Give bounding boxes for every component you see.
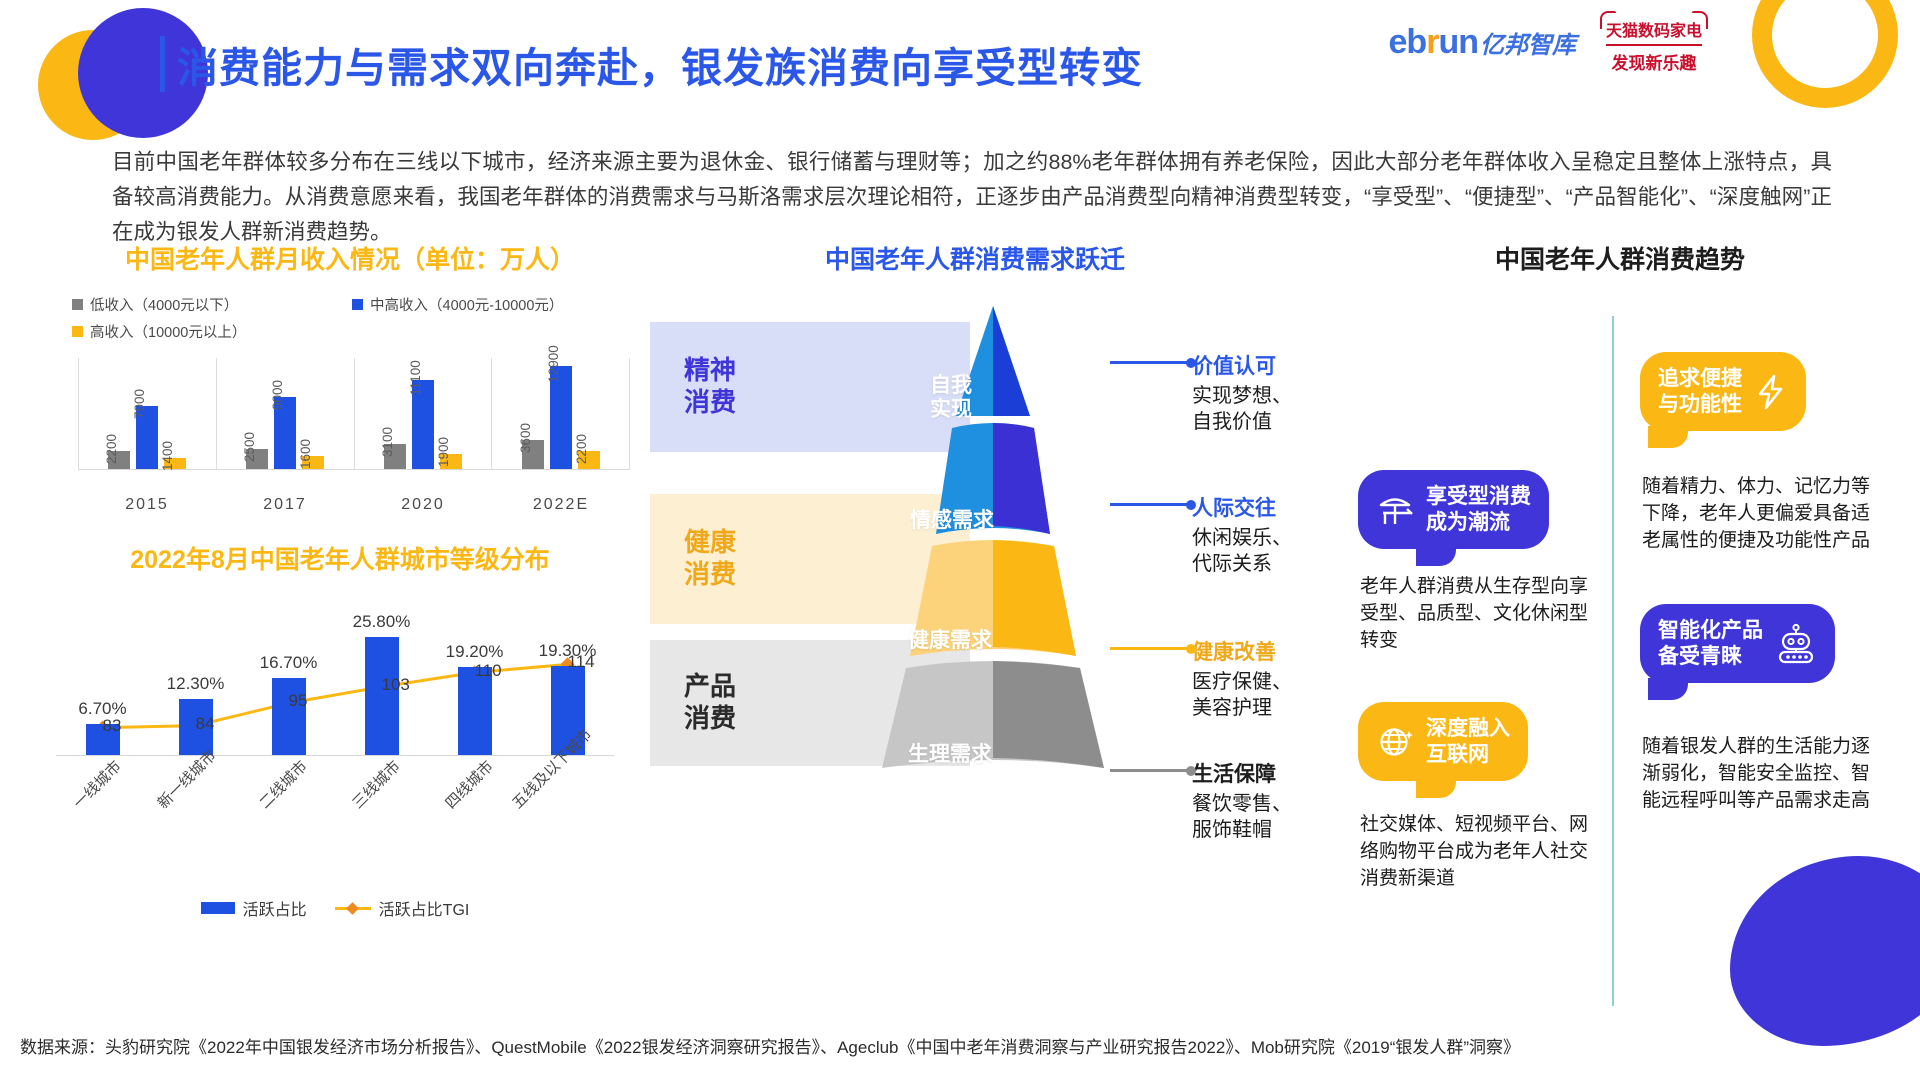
chart1-legend-item-low: 低收入（4000元以下）: [72, 294, 352, 315]
callout-body-2-line2: 代际关系: [1192, 551, 1292, 577]
cone-level4-right: [993, 661, 1104, 768]
trend-card-1-body: 老年人群消费从生存型向享受型、品质型、文化休闲型转变: [1360, 574, 1588, 655]
chart1-bar-value: 3100: [380, 427, 395, 457]
chart1-bar: 7900: [136, 406, 158, 469]
trend-card-3-head-line1: 深度融入: [1426, 716, 1510, 742]
callout-social-interaction: 人际交往 休闲娱乐、 代际关系: [1110, 492, 1292, 577]
cone-level2-right: [993, 423, 1050, 534]
chart2-x-label-wrap: 五线及以下城市: [521, 792, 614, 884]
chart1-bar-value: 3600: [518, 423, 533, 453]
chart1-bar-value: 1400: [160, 441, 175, 471]
chart1-title: 中国老年人群月收入情况（单位：万人）: [60, 240, 640, 276]
legend-swatch-active-share: [201, 902, 235, 914]
chart2-x-label-wrap: 一线城市: [56, 792, 149, 884]
callout-health-improvement: 健康改善 医疗保健、 美容护理: [1110, 636, 1292, 721]
data-source-footer: 数据来源：头豹研究院《2022年中国银发经济市场分析报告》、QuestMobil…: [20, 1033, 1520, 1058]
callout-body-3-line1: 医疗保健、: [1192, 669, 1292, 695]
chart1-group-2020: 3100111001900: [354, 358, 492, 469]
trend-card-2-head-line1: 追求便捷: [1658, 366, 1742, 392]
trend-card-3-bubble: 深度融入 互联网: [1358, 702, 1528, 781]
chart2-bar: 16.70%: [272, 678, 306, 755]
chart1-bar: 2500: [246, 449, 268, 469]
band-label-health-line2: 消费: [684, 559, 736, 591]
callout-head-1: 价值认可: [1192, 350, 1292, 380]
band-label-spiritual: 精神 消费: [684, 355, 736, 418]
pyramid-title: 中国老年人群消费需求跃迁: [640, 240, 1310, 276]
chart1-bar-value: 12900: [546, 345, 561, 383]
callout-dot-2: [1186, 500, 1196, 510]
ebrun-logo: ebrun 亿邦智库: [1389, 23, 1576, 62]
left-column: 中国老年人群月收入情况（单位：万人） 低收入（4000元以下） 中高收入（400…: [30, 240, 640, 920]
robot-icon: [1775, 623, 1817, 665]
legend-swatch-low-income: [72, 299, 83, 310]
chart1-bar-value: 2200: [104, 434, 119, 464]
chart1-group-2015: 220079001400: [78, 358, 216, 469]
chart2-x-label-wrap: 新一线城市: [149, 792, 242, 884]
chart2-bar-label: 12.30%: [167, 674, 225, 694]
trend-card-4-head-line1: 智能化产品: [1658, 618, 1763, 644]
callout-leader-line-1: [1110, 361, 1192, 364]
chart2-bar: 25.80%: [365, 637, 399, 755]
callout-dot-1: [1186, 358, 1196, 368]
callout-body-1-line2: 自我价值: [1192, 409, 1292, 435]
chart1-bar: 3100: [384, 444, 406, 469]
chart2-x-label-wrap: 二线城市: [242, 792, 335, 884]
callout-text-3: 健康改善 医疗保健、 美容护理: [1192, 636, 1292, 721]
trends-grid: 享受型消费 成为潮流 老年人群消费从生存型向享受型、品质型、文化休闲型转变 追求…: [1350, 322, 1890, 1012]
chart1-bar-value: 1600: [298, 439, 313, 469]
trend-card-4-bubble: 智能化产品 备受青睐: [1640, 604, 1835, 683]
chart1-x-axis: 2015201720202022E: [30, 496, 640, 514]
intro-paragraph: 目前中国老年群体较多分布在三线以下城市，经济来源主要为退休金、银行储蓄与理财等；…: [112, 145, 1832, 249]
chart1-bar-value: 9000: [270, 380, 285, 410]
trend-card-3-body: 社交媒体、短视频平台、网络购物平台成为老年人社交消费新渠道: [1360, 812, 1588, 893]
band-label-product: 产品 消费: [684, 671, 736, 734]
cone-level1-label-line2: 实现: [930, 398, 972, 422]
chart2-legend-item-line: 活跃占比TGI: [335, 896, 470, 920]
tmall-logo: 天猫数码家电 发现新乐趣: [1598, 12, 1710, 73]
chart1-bar-value: 7900: [132, 389, 147, 419]
chart2-x-label-wrap: 四线城市: [428, 792, 521, 884]
callout-life-security: 生活保障 餐饮零售、 服饰鞋帽: [1110, 758, 1292, 843]
cone-level3-right: [993, 540, 1076, 656]
trends-title: 中国老年人群消费趋势: [1350, 240, 1890, 276]
right-column: 中国老年人群消费趋势 享受型消费 成为潮流 老年人群消费从生存型向享受型、品质型…: [1350, 240, 1890, 1012]
legend-label-mid-income: 中高收入（4000元-10000元）: [370, 294, 563, 315]
callout-leader-line-4: [1110, 769, 1192, 772]
chart1-plot-area: 2200790014002500900016003100111001900360…: [78, 358, 630, 470]
trend-card-4-head-line2: 备受青睐: [1658, 644, 1763, 670]
callout-text-1: 价值认可 实现梦想、 自我价值: [1192, 350, 1292, 435]
callout-value-recognition: 价值认可 实现梦想、 自我价值: [1110, 350, 1292, 435]
tmall-logo-line2: 发现新乐趣: [1598, 55, 1710, 74]
chart2-column-三线城市: 25.80%: [335, 588, 428, 755]
band-label-spiritual-line2: 消费: [684, 387, 736, 419]
chart1-legend-item-high: 高收入（10000元以上）: [72, 321, 246, 342]
trend-card-1-head-line1: 享受型消费: [1426, 484, 1531, 510]
chart1-bar: 1400: [164, 458, 186, 469]
chart1-legend-item-mid: 中高收入（4000元-10000元）: [352, 294, 563, 315]
title-accent-rule: [160, 36, 165, 92]
chart2-column-二线城市: 16.70%: [242, 588, 335, 755]
cone-graphic: [828, 298, 1158, 776]
callout-text-2: 人际交往 休闲娱乐、 代际关系: [1192, 492, 1292, 577]
chart1-bar-value: 2500: [242, 432, 257, 462]
chart2-tgi-value: 84: [196, 714, 215, 734]
callout-dot-3: [1186, 644, 1196, 654]
chart1-bar: 11100: [412, 380, 434, 469]
chart1-x-label: 2022E: [492, 496, 630, 514]
band-label-health: 健康 消费: [684, 527, 736, 590]
chart1-x-label: 2015: [78, 496, 216, 514]
chart1-legend: 低收入（4000元以下） 中高收入（4000元-10000元） 高收入（1000…: [30, 294, 640, 342]
chart2-tgi-value: 114: [568, 652, 595, 672]
chart1-bar: 3600: [522, 440, 544, 469]
callout-head-4: 生活保障: [1192, 758, 1292, 788]
chart2-legend: 活跃占比 活跃占比TGI: [30, 896, 640, 920]
chart2-bar-label: 16.70%: [260, 653, 318, 673]
chart2-legend-item-bar: 活跃占比: [201, 896, 307, 920]
trend-card-4-body: 随着银发人群的生活能力逐渐弱化，智能安全监控、智能远程呼叫等产品需求走高: [1642, 734, 1878, 815]
callout-leader-line-2: [1110, 503, 1192, 506]
page-title: 消费能力与需求双向奔赴，银发族消费向享受型转变: [177, 34, 1143, 94]
chart1-bar: 12900: [550, 366, 572, 469]
chart2-tgi-value: 110: [475, 661, 502, 681]
legend-swatch-high-income: [72, 326, 83, 337]
legend-label-active-share: 活跃占比: [243, 896, 307, 920]
callout-body-3-line2: 美容护理: [1192, 695, 1292, 721]
trend-card-3-head: 深度融入 互联网: [1426, 716, 1510, 767]
chart2-tgi-value: 95: [289, 691, 308, 711]
band-label-spiritual-line1: 精神: [684, 355, 736, 387]
trend-card-2-head-line2: 与功能性: [1658, 392, 1742, 418]
legend-swatch-active-tgi: [335, 902, 371, 914]
chart2-tgi-value: 83: [103, 716, 122, 736]
callout-body-4-line2: 服饰鞋帽: [1192, 817, 1292, 843]
trend-card-3-head-line2: 互联网: [1426, 742, 1510, 768]
chart2-tgi-value: 103: [382, 675, 410, 695]
cone-level1-label: 自我 实现: [930, 374, 972, 423]
chart2-title: 2022年8月中国老年人群城市等级分布: [40, 540, 640, 576]
chart1-group-2017: 250090001600: [216, 358, 354, 469]
chart2-bar-label: 25.80%: [353, 612, 411, 632]
chart2-plot-area: 6.70%12.30%16.70%25.80%19.20%19.30%: [56, 588, 614, 756]
infographic-page: 消费能力与需求双向奔赴，银发族消费向享受型转变 ebrun 亿邦智库 天猫数码家…: [0, 0, 1920, 1080]
needs-pyramid: 精神 消费 健康 消费 产品 消费: [650, 322, 1310, 772]
chart1-bar: 2200: [578, 451, 600, 469]
trend-card-2-head: 追求便捷 与功能性: [1658, 366, 1742, 417]
globe-network-icon: [1376, 723, 1414, 761]
chart1-bar: 9000: [274, 397, 296, 469]
chart1-bar: 1900: [440, 454, 462, 469]
chart1-bar: 2200: [108, 451, 130, 469]
callout-body-1-line1: 实现梦想、: [1192, 383, 1292, 409]
cone-level3-label: 健康需求: [908, 624, 992, 654]
trend-card-1-head-line2: 成为潮流: [1426, 510, 1531, 536]
chart2-x-label-wrap: 三线城市: [335, 792, 428, 884]
chart1-income-bars: 2200790014002500900016003100111001900360…: [30, 358, 640, 488]
chart1-x-label: 2020: [354, 496, 492, 514]
band-label-health-line1: 健康: [684, 527, 736, 559]
chart2-x-axis: 一线城市新一线城市二线城市三线城市四线城市五线及以下城市: [30, 792, 640, 884]
ebrun-logo-part2: r: [1426, 23, 1438, 62]
tmall-logo-line1: 天猫数码家电: [1606, 23, 1702, 46]
brand-logos: ebrun 亿邦智库 天猫数码家电 发现新乐趣: [1389, 12, 1710, 73]
chart1-x-label: 2017: [216, 496, 354, 514]
cone-level1-label-line1: 自我: [930, 374, 972, 398]
trend-card-1-head: 享受型消费 成为潮流: [1426, 484, 1531, 535]
chart2-bar-label: 19.20%: [446, 642, 504, 662]
cone-level1-right: [993, 306, 1030, 416]
callout-text-4: 生活保障 餐饮零售、 服饰鞋帽: [1192, 758, 1292, 843]
callout-body-4-line1: 餐饮零售、: [1192, 791, 1292, 817]
callout-leader-line-3: [1110, 647, 1192, 650]
lightning-bolt-icon: [1754, 373, 1788, 411]
ebrun-logo-part1: eb: [1389, 23, 1427, 62]
trend-card-1-bubble: 享受型消费 成为潮流: [1358, 470, 1549, 549]
beach-umbrella-icon: [1376, 493, 1414, 527]
middle-column: 中国老年人群消费需求跃迁 精神 消费 健康 消费 产品 消费: [650, 240, 1310, 772]
trend-card-4-head: 智能化产品 备受青睐: [1658, 618, 1763, 669]
page-title-bar: 消费能力与需求双向奔赴，银发族消费向享受型转变: [160, 34, 1143, 94]
legend-label-active-tgi: 活跃占比TGI: [379, 896, 470, 920]
chart1-bar: 1600: [302, 456, 324, 469]
ebrun-logo-part3: un: [1438, 23, 1478, 62]
callout-body-2-line1: 休闲娱乐、: [1192, 525, 1292, 551]
callout-head-3: 健康改善: [1192, 636, 1292, 666]
callout-head-2: 人际交往: [1192, 492, 1292, 522]
band-label-product-line2: 消费: [684, 703, 736, 735]
tmall-cat-outline-icon: 天猫数码家电: [1598, 16, 1710, 51]
ebrun-logo-cn: 亿邦智库: [1480, 25, 1576, 60]
cone-level4-label: 生理需求: [908, 738, 992, 768]
chart1-bar-value: 11100: [408, 360, 423, 396]
trend-card-2-bubble: 追求便捷 与功能性: [1640, 352, 1806, 431]
chart1-group-2022E: 3600129002200: [491, 358, 630, 469]
chart1-bar-value: 1900: [436, 437, 451, 467]
chart1-bar-value: 2200: [574, 434, 589, 464]
callout-dot-4: [1186, 766, 1196, 776]
legend-label-high-income: 高收入（10000元以上）: [90, 321, 246, 342]
legend-label-low-income: 低收入（4000元以下）: [90, 294, 238, 315]
cone-level2-label: 情感需求: [910, 504, 994, 534]
legend-swatch-mid-income: [352, 299, 363, 310]
band-label-product-line1: 产品: [684, 671, 736, 703]
trend-card-2-body: 随着精力、体力、记忆力等下降，老年人更偏爱具备适老属性的便捷及功能性产品: [1642, 474, 1878, 555]
decorative-yellow-ring: [1752, 0, 1898, 108]
